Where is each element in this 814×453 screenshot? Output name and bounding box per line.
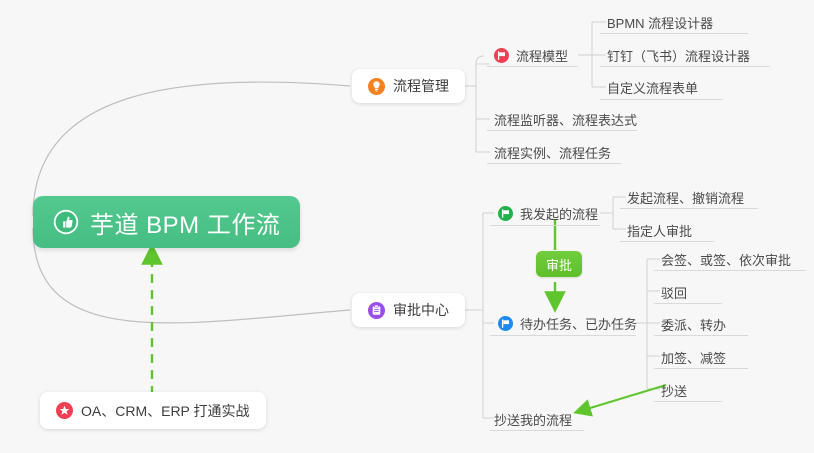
node-process-model[interactable]: 流程模型 — [490, 44, 572, 66]
node-bpmn-designer[interactable]: BPMN 流程设计器 — [603, 11, 717, 33]
node-delegate-transfer[interactable]: 委派、转办 — [657, 313, 730, 335]
node-assignee-approval-label: 指定人审批 — [627, 221, 692, 240]
node-reject[interactable]: 驳回 — [657, 281, 691, 303]
node-carbon-copy[interactable]: 抄送 — [657, 379, 691, 401]
underline-instance — [487, 163, 621, 164]
branch-approval-center-label: 审批中心 — [393, 300, 449, 320]
root-label: 芋道 BPM 工作流 — [90, 205, 280, 240]
underline-dingtalk — [600, 66, 770, 67]
root-node[interactable]: 芋道 BPM 工作流 — [33, 196, 300, 248]
underline-countersign — [654, 270, 806, 271]
node-my-started-processes-label: 我发起的流程 — [520, 204, 598, 223]
mindmap-canvas: 芋道 BPM 工作流 流程管理 流程模型 BPMN 流程设计器 钉钉（飞书）流程 — [0, 0, 814, 453]
lightbulb-icon — [368, 78, 385, 95]
node-instance-task-label: 流程实例、流程任务 — [494, 143, 611, 162]
node-custom-form[interactable]: 自定义流程表单 — [603, 76, 702, 98]
node-todo-done-tasks-label: 待办任务、已办任务 — [520, 314, 637, 333]
underline-reject — [654, 303, 722, 304]
underline-delegate — [654, 335, 748, 336]
underline-customform — [600, 99, 723, 100]
underline-addsign — [654, 368, 748, 369]
node-dingtalk-designer-label: 钉钉（飞书）流程设计器 — [607, 46, 750, 65]
node-custom-form-label: 自定义流程表单 — [607, 78, 698, 97]
star-icon — [56, 402, 73, 419]
underline-ccmine — [490, 430, 584, 431]
node-cc-to-me-label: 抄送我的流程 — [494, 410, 572, 429]
node-listener-expression[interactable]: 流程监听器、流程表达式 — [490, 108, 641, 130]
node-countersign-label: 会签、或签、依次审批 — [661, 250, 791, 269]
link-to-process-model — [476, 56, 490, 64]
thumbs-up-icon — [53, 209, 79, 235]
node-carbon-copy-label: 抄送 — [661, 381, 687, 400]
underline-cc — [654, 401, 722, 402]
annotation-approval-badge-label: 审批 — [546, 255, 572, 274]
underline-model — [487, 66, 578, 67]
underline-mystarted — [490, 225, 600, 226]
branch-process-management[interactable]: 流程管理 — [352, 69, 465, 103]
branch-process-management-label: 流程管理 — [393, 76, 449, 96]
node-my-started-processes[interactable]: 我发起的流程 — [494, 202, 602, 224]
node-todo-done-tasks[interactable]: 待办任务、已办任务 — [494, 312, 641, 334]
annotation-approval-badge[interactable]: 审批 — [536, 251, 582, 277]
underline-todo — [490, 335, 636, 336]
node-start-cancel-process[interactable]: 发起流程、撤销流程 — [623, 186, 748, 208]
annotation-integration-card[interactable]: OA、CRM、ERP 打通实战 — [40, 392, 266, 429]
arrow-cc-to-ccmine — [577, 385, 666, 412]
underline-start-cancel — [620, 208, 758, 209]
node-listener-expression-label: 流程监听器、流程表达式 — [494, 110, 637, 129]
underline-bpmn — [600, 33, 748, 34]
clipboard-icon — [368, 302, 385, 319]
flag-icon — [498, 316, 513, 331]
annotation-integration-card-label: OA、CRM、ERP 打通实战 — [81, 401, 250, 421]
node-reject-label: 驳回 — [661, 283, 687, 302]
node-instance-task[interactable]: 流程实例、流程任务 — [490, 141, 615, 163]
node-assignee-approval[interactable]: 指定人审批 — [623, 219, 696, 241]
node-process-model-label: 流程模型 — [516, 46, 568, 65]
node-delegate-transfer-label: 委派、转办 — [661, 315, 726, 334]
branch-approval-center[interactable]: 审批中心 — [352, 293, 465, 327]
node-add-remove-sign-label: 加签、减签 — [661, 348, 726, 367]
flag-icon — [494, 48, 509, 63]
underline-listener — [487, 130, 637, 131]
node-cc-to-me[interactable]: 抄送我的流程 — [490, 408, 576, 430]
node-bpmn-designer-label: BPMN 流程设计器 — [607, 13, 713, 32]
node-countersign[interactable]: 会签、或签、依次审批 — [657, 248, 795, 270]
node-start-cancel-process-label: 发起流程、撤销流程 — [627, 188, 744, 207]
underline-assignee — [620, 241, 714, 242]
node-dingtalk-designer[interactable]: 钉钉（飞书）流程设计器 — [603, 44, 754, 66]
flag-icon — [498, 206, 513, 221]
node-add-remove-sign[interactable]: 加签、减签 — [657, 346, 730, 368]
